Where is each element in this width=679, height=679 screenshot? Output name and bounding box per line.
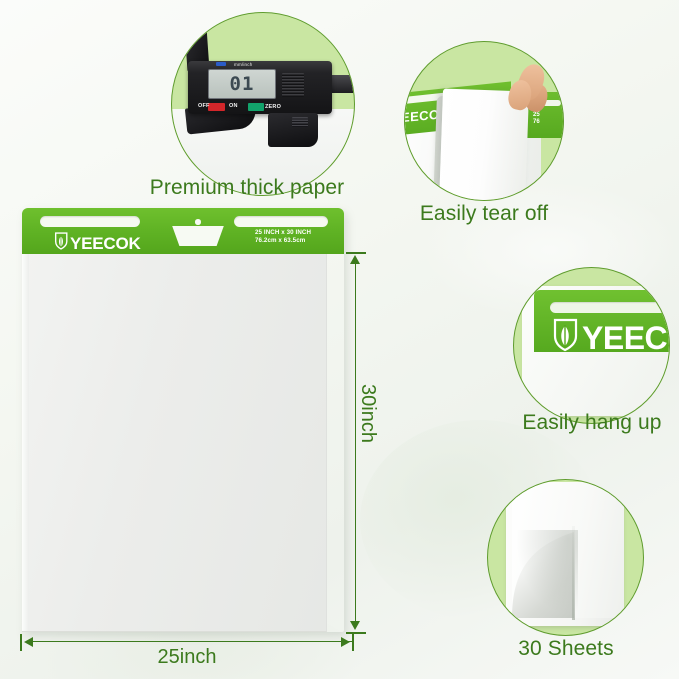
pad-hanging-slot-left bbox=[40, 216, 140, 227]
hang-up-brand-text: YEECOK bbox=[582, 323, 669, 353]
dimension-width-line bbox=[28, 641, 354, 642]
pad-paper-body bbox=[22, 254, 327, 632]
caliper-reading-value: 01 bbox=[230, 75, 255, 94]
caliper-vent-grille-icon bbox=[282, 73, 304, 97]
caliper-unit-label: mm/inch bbox=[234, 62, 252, 67]
caliper-battery-slot-icon bbox=[292, 117, 308, 127]
tear-off-scene: 25 76 EECOK bbox=[405, 42, 563, 200]
feature-circle-easily-hang-up: YEECOK bbox=[513, 267, 670, 424]
dimension-height-line bbox=[355, 258, 356, 628]
leaf-icon bbox=[54, 232, 69, 255]
pad-handle-cutout bbox=[168, 226, 228, 246]
arrow-down-icon bbox=[350, 621, 360, 630]
caliper-off-button bbox=[208, 103, 225, 111]
hang-up-hanging-slot bbox=[550, 302, 669, 313]
pad-handle-hole bbox=[195, 219, 201, 225]
caption-thirty-sheets: 30 Sheets bbox=[485, 637, 647, 661]
caliper-blue-indicator-icon bbox=[216, 62, 226, 66]
tear-off-size-mini: 25 76 bbox=[533, 112, 540, 126]
caption-easily-hang-up: Easily hang up bbox=[510, 411, 674, 435]
caliper-off-label: OFF bbox=[198, 103, 210, 109]
arrow-up-icon bbox=[350, 255, 360, 264]
sheet-edge-line bbox=[572, 526, 575, 620]
pad-size-inches: 25 INCH x 30 INCH bbox=[255, 229, 311, 237]
hang-up-brand-lockup: YEECOK bbox=[552, 318, 669, 357]
sheets-scene bbox=[488, 480, 643, 635]
feature-circle-premium-thick-paper: mm/inch 01 OFF ON ZERO bbox=[171, 12, 355, 196]
caliper-zero-label: ZERO bbox=[265, 104, 281, 110]
tear-off-size-line2: 76 bbox=[533, 119, 540, 126]
pad-brand-lockup: YEECOK bbox=[54, 232, 141, 255]
curled-corner-shadow bbox=[512, 530, 578, 620]
leaf-icon bbox=[552, 318, 580, 357]
caliper-lcd-screen: 01 bbox=[208, 69, 276, 99]
pad-hanging-slot-right bbox=[234, 216, 328, 227]
dimension-width: 25inch bbox=[20, 634, 362, 668]
dimension-height-top-cap bbox=[346, 252, 366, 254]
dimension-height-label: 30inch bbox=[356, 384, 379, 443]
hang-up-scene: YEECOK bbox=[514, 268, 669, 423]
feature-circle-thirty-sheets bbox=[487, 479, 644, 636]
caliper-on-label: ON bbox=[229, 103, 238, 109]
dimension-width-label: 25inch bbox=[20, 646, 354, 669]
dimension-height: 30inch bbox=[344, 252, 370, 634]
flipchart-pad: YEECOK 25 INCH x 30 INCH 76.2cm x 63.5cm bbox=[22, 208, 344, 632]
caliper-scene: mm/inch 01 OFF ON ZERO bbox=[172, 13, 354, 195]
tear-off-size-line1: 25 bbox=[533, 112, 540, 119]
pad-size-cm: 76.2cm x 63.5cm bbox=[255, 237, 311, 245]
hand-icon bbox=[505, 60, 545, 112]
feature-circle-easily-tear-off: 25 76 EECOK bbox=[404, 41, 564, 201]
pad-size-label: 25 INCH x 30 INCH 76.2cm x 63.5cm bbox=[255, 229, 311, 246]
caliper-zero-button bbox=[248, 103, 264, 111]
pad-brand-text: YEECOK bbox=[70, 236, 141, 252]
caption-premium-thick-paper: Premium thick paper bbox=[131, 176, 363, 200]
caption-easily-tear-off: Easily tear off bbox=[398, 202, 570, 226]
